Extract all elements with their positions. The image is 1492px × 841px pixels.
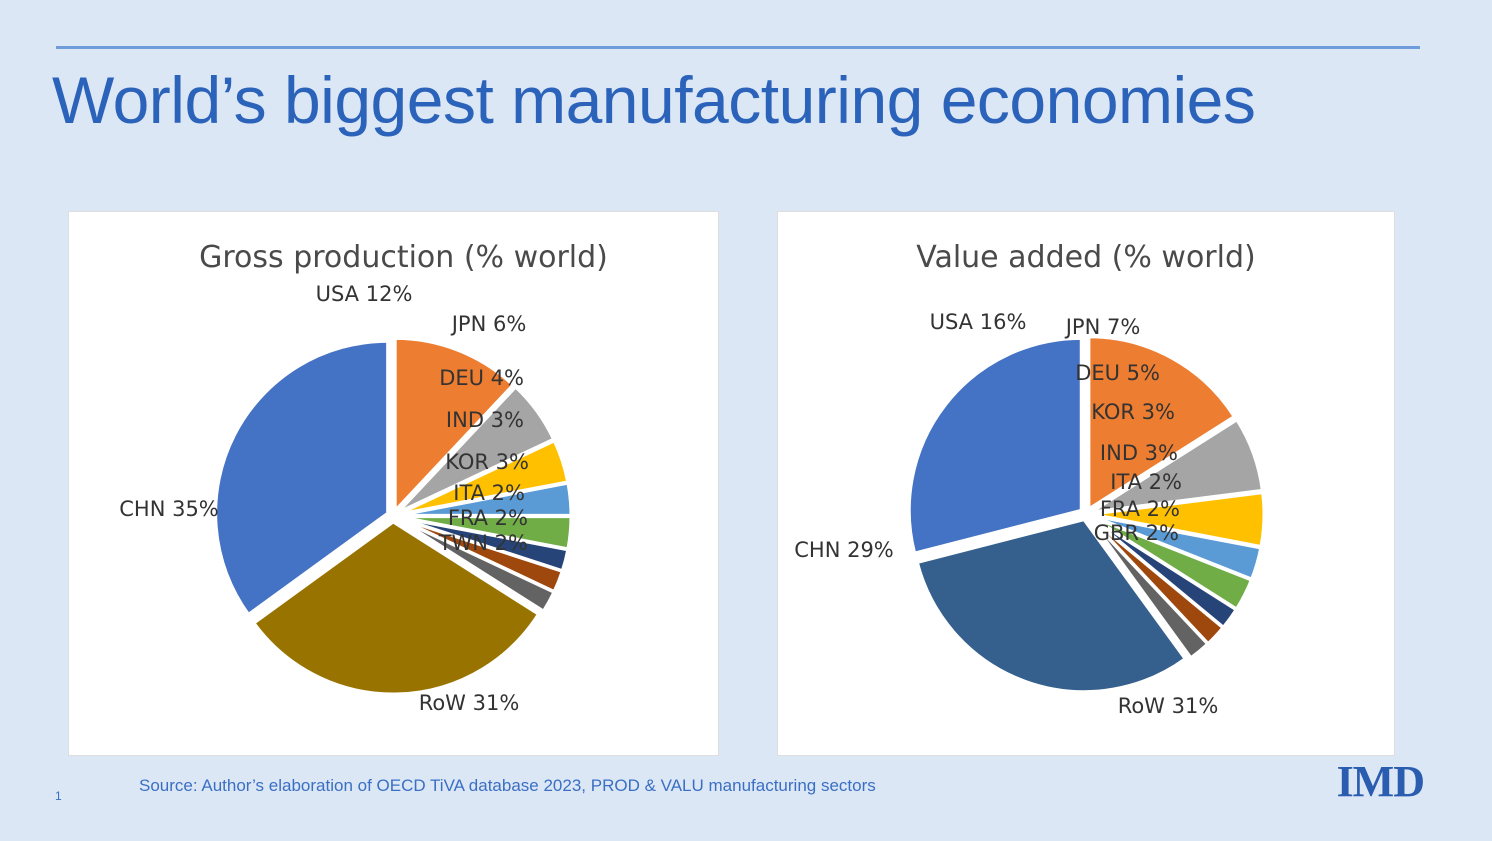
pie-label-ind: IND 3%: [1100, 441, 1178, 465]
pie-label-deu: DEU 4%: [439, 366, 524, 390]
pie-label-fra: FRA 2%: [448, 506, 528, 530]
pie-label-ita: ITA 2%: [453, 481, 525, 505]
pie-label-fra: FRA 2%: [1100, 497, 1180, 521]
pie-slice-chn: [909, 338, 1081, 553]
pie-label-jpn: JPN 7%: [1066, 315, 1141, 339]
pie-label-ita: ITA 2%: [1110, 470, 1182, 494]
title-divider-rule: [56, 46, 1420, 49]
pie-label-jpn: JPN 6%: [452, 312, 527, 336]
chart-card-gross-production: Gross production (% world) USA 12%JPN 6%…: [68, 211, 719, 756]
page-title: World’s biggest manufacturing economies: [52, 62, 1422, 138]
pie-label-chn: CHN 29%: [794, 538, 894, 562]
slide-root: World’s biggest manufacturing economies …: [0, 0, 1492, 841]
pie-label-ind: IND 3%: [446, 408, 524, 432]
pie-label-twn: TWN 2%: [439, 531, 528, 555]
pie-chart-value-added: USA 16%JPN 7%DEU 5%KOR 3%IND 3%ITA 2%FRA…: [778, 212, 1394, 755]
pie-label-kor: KOR 3%: [1091, 400, 1175, 424]
pie-label-usa: USA 16%: [930, 310, 1027, 334]
page-number: 1: [55, 789, 62, 803]
pie-label-deu: DEU 5%: [1075, 361, 1160, 385]
chart-card-value-added: Value added (% world) USA 16%JPN 7%DEU 5…: [777, 211, 1395, 756]
pie-label-row: RoW 31%: [1118, 694, 1219, 718]
imd-logo: IMD: [1337, 760, 1424, 804]
pie-chart-gross-production: USA 12%JPN 6%DEU 4%IND 3%KOR 3%ITA 2%FRA…: [69, 212, 718, 755]
pie-label-row: RoW 31%: [419, 691, 520, 715]
pie-svg-value-added: [778, 212, 1396, 757]
pie-label-chn: CHN 35%: [119, 497, 219, 521]
pie-label-usa: USA 12%: [316, 282, 413, 306]
pie-label-kor: KOR 3%: [445, 450, 529, 474]
source-note: Source: Author’s elaboration of OECD TiV…: [139, 776, 876, 796]
pie-label-gbr: GBR 2%: [1094, 521, 1179, 545]
